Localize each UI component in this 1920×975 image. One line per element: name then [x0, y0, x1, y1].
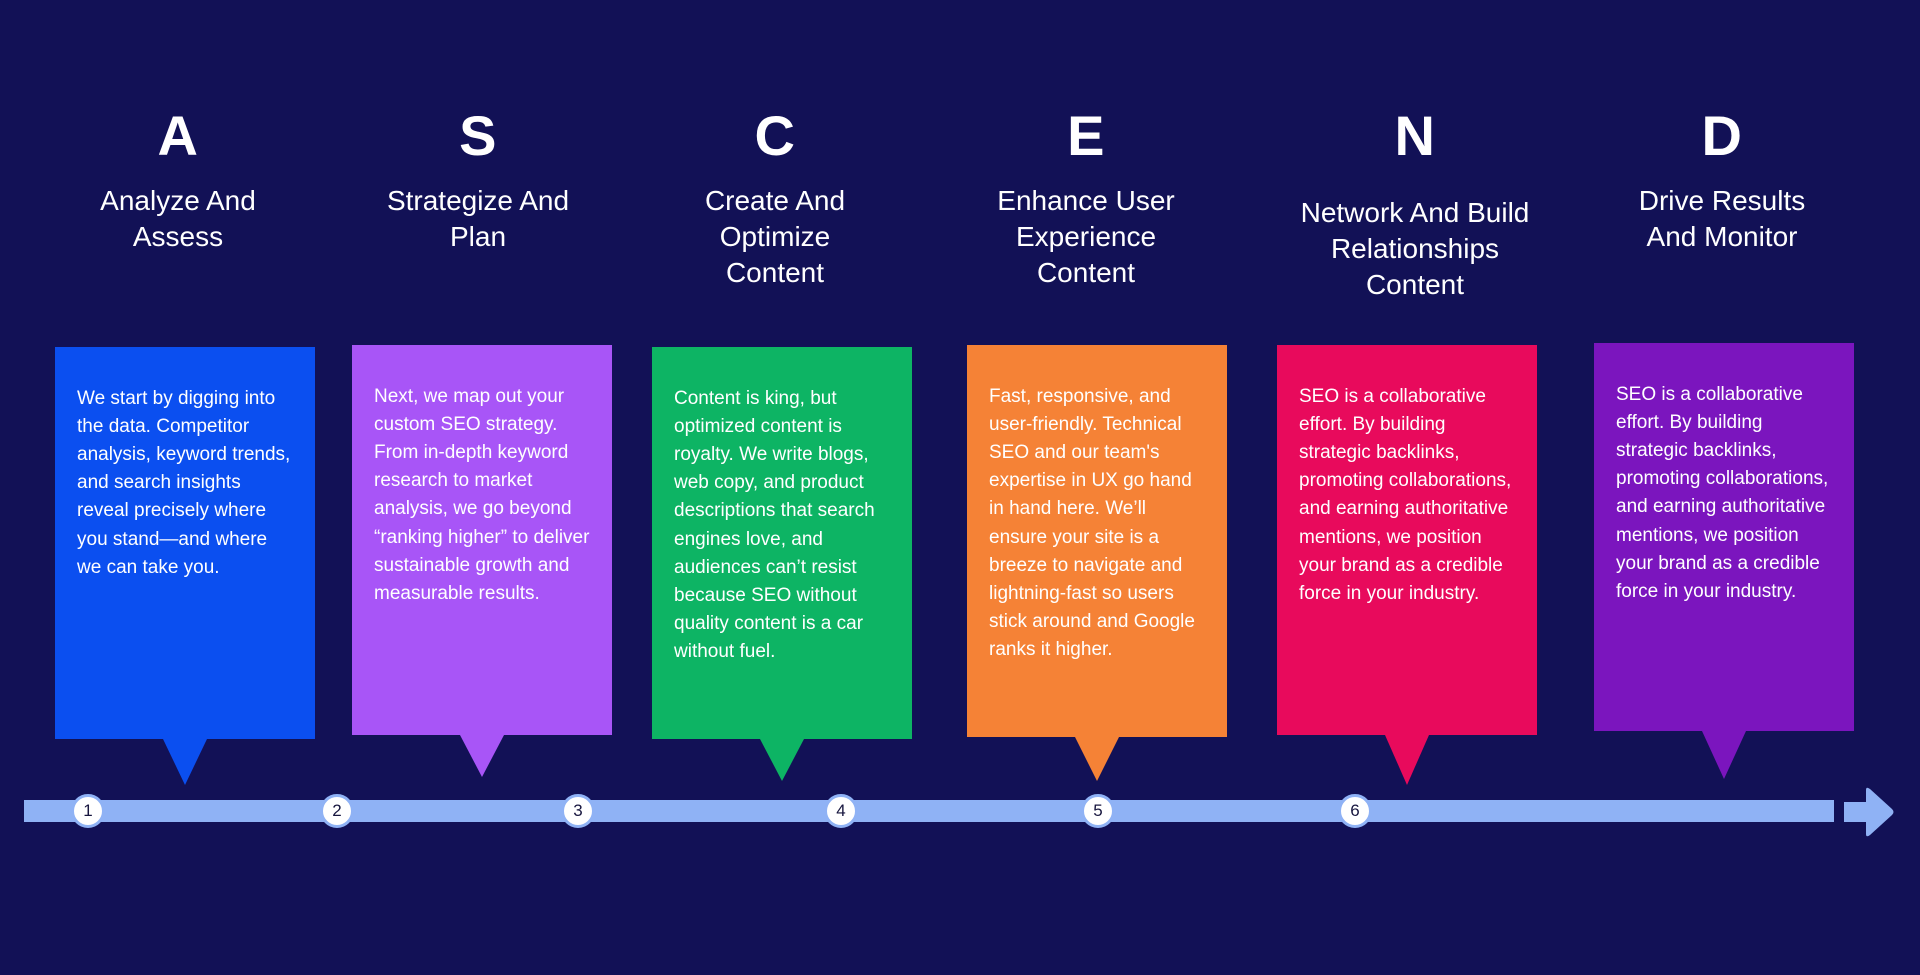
infographic-canvas: AAnalyze And AssessSStrategize And PlanC… [0, 0, 1920, 975]
step-card-body: We start by digging into the data. Compe… [55, 347, 315, 739]
timeline-badge-1[interactable]: 1 [71, 794, 105, 828]
step-title: Network And Build Relationships Content [1277, 195, 1553, 302]
process-timeline: 123456 [24, 796, 1896, 826]
step-card-tail [460, 735, 504, 777]
step-letter: S [348, 108, 608, 164]
timeline-badge-4[interactable]: 4 [824, 794, 858, 828]
step-card-tail [163, 739, 207, 785]
step-title: Strategize And Plan [340, 183, 616, 255]
step-card-body: Next, we map out your custom SEO strateg… [352, 345, 612, 735]
step-card-body: SEO is a collaborative effort. By buildi… [1594, 343, 1854, 731]
step-letter: A [48, 108, 308, 164]
step-card-tail [1075, 737, 1119, 781]
step-letter: C [645, 108, 905, 164]
step-card-5[interactable]: SEO is a collaborative effort. By buildi… [1277, 345, 1537, 735]
step-letter: E [956, 108, 1216, 164]
step-card-body: Content is king, but optimized content i… [652, 347, 912, 739]
step-title: Create And Optimize Content [637, 183, 913, 290]
arrow-right-icon [1836, 784, 1896, 840]
step-title: Enhance User Experience Content [948, 183, 1224, 290]
timeline-badge-2[interactable]: 2 [320, 794, 354, 828]
step-card-tail [1385, 735, 1429, 785]
timeline-badge-6[interactable]: 6 [1338, 794, 1372, 828]
step-title: Analyze And Assess [40, 183, 316, 255]
step-card-1[interactable]: We start by digging into the data. Compe… [55, 347, 315, 739]
step-card-6[interactable]: SEO is a collaborative effort. By buildi… [1594, 343, 1854, 731]
step-card-2[interactable]: Next, we map out your custom SEO strateg… [352, 345, 612, 735]
step-card-body: Fast, responsive, and user-friendly. Tec… [967, 345, 1227, 737]
step-title: Drive Results And Monitor [1584, 183, 1860, 255]
step-card-3[interactable]: Content is king, but optimized content i… [652, 347, 912, 739]
timeline-badge-3[interactable]: 3 [561, 794, 595, 828]
step-card-tail [1702, 731, 1746, 779]
timeline-bar [24, 800, 1834, 822]
timeline-badge-5[interactable]: 5 [1081, 794, 1115, 828]
step-letter: D [1592, 108, 1852, 164]
step-card-tail [760, 739, 804, 781]
step-card-body: SEO is a collaborative effort. By buildi… [1277, 345, 1537, 735]
step-card-4[interactable]: Fast, responsive, and user-friendly. Tec… [967, 345, 1227, 737]
step-letter: N [1285, 108, 1545, 164]
